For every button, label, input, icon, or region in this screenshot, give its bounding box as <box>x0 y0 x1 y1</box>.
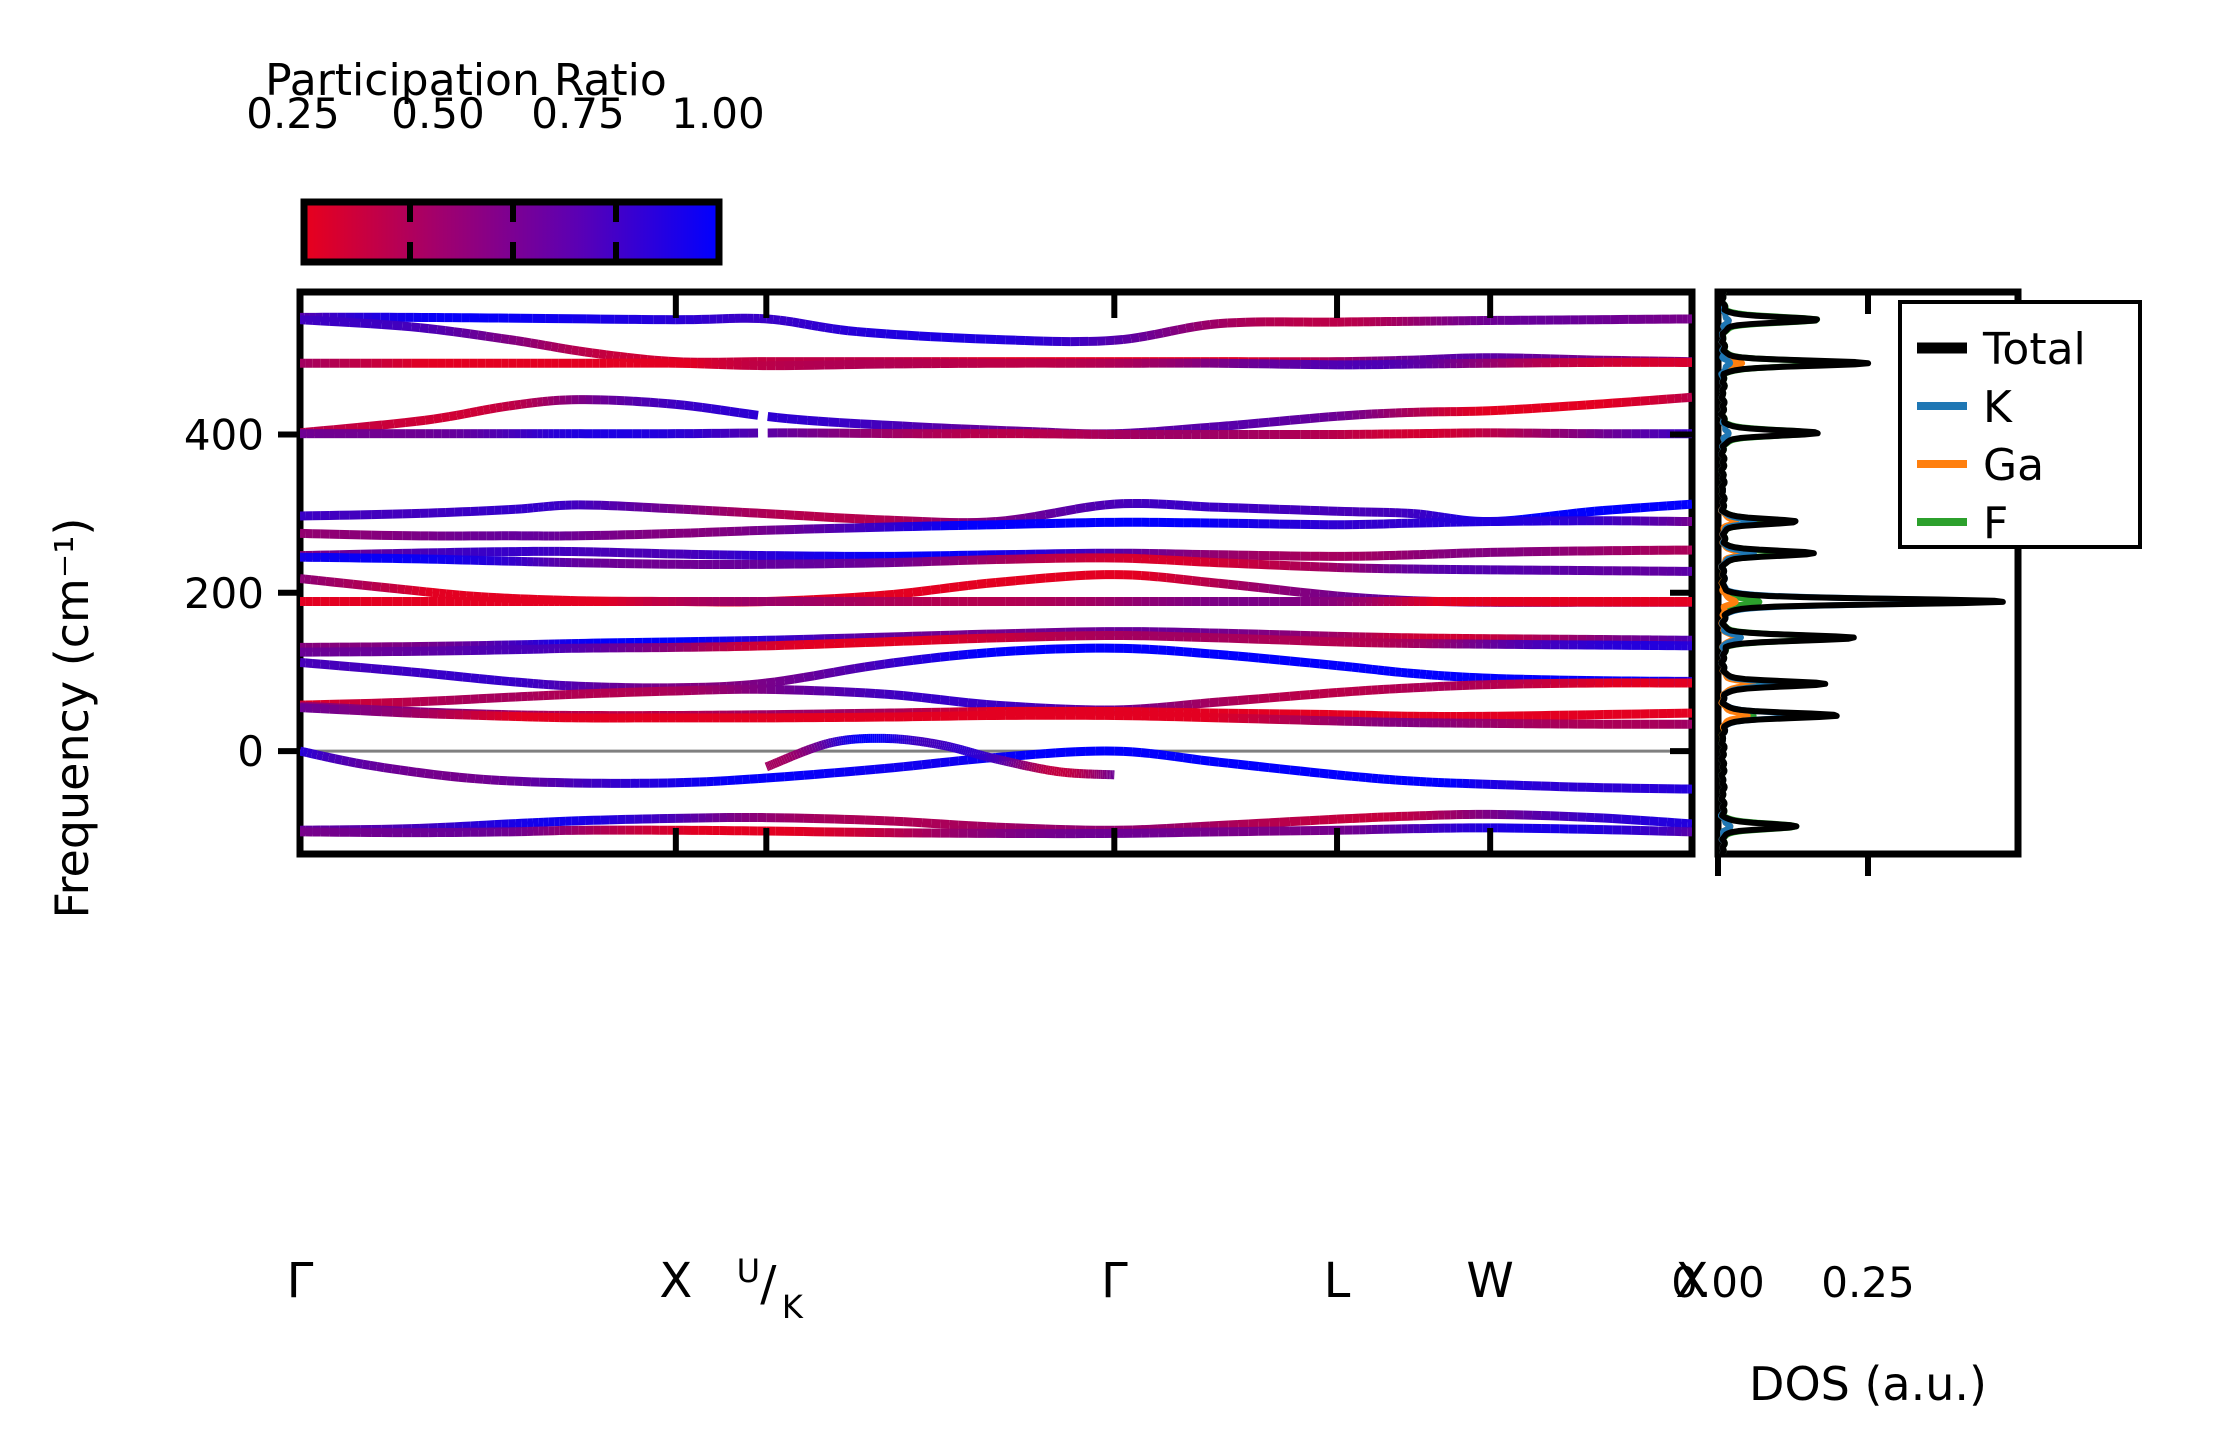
band-segment <box>885 694 895 695</box>
band-segment <box>1191 428 1200 429</box>
band-segment <box>778 761 780 762</box>
band-segment <box>1280 769 1290 770</box>
band-segment <box>442 417 450 418</box>
band-segment <box>311 580 318 581</box>
band-segment <box>1141 575 1150 576</box>
band-segment <box>876 333 886 334</box>
band-segment <box>676 404 685 405</box>
band-segment <box>1025 516 1035 518</box>
band-segment <box>956 748 958 749</box>
band-segment <box>1175 757 1183 758</box>
band-segment <box>785 679 795 680</box>
band-segment <box>392 769 400 770</box>
band-segment <box>805 750 808 751</box>
band-segment <box>1015 518 1025 519</box>
band-segment <box>825 744 827 745</box>
band-segment <box>1650 506 1659 507</box>
band-segment <box>350 667 361 668</box>
band-segment <box>426 592 433 593</box>
band-segment <box>1290 770 1300 771</box>
legend-label-ga[interactable]: Ga <box>1983 440 2044 491</box>
band-segment <box>1300 821 1310 822</box>
band-segment <box>490 408 496 409</box>
band-segment <box>996 652 1006 653</box>
band-segment <box>785 515 795 516</box>
band-segment <box>1395 672 1401 673</box>
band-segment <box>1568 513 1577 514</box>
band-segment <box>953 338 964 339</box>
band-segment <box>1219 323 1228 324</box>
band-segment <box>992 758 994 759</box>
band-segment <box>1201 653 1210 654</box>
band-segment <box>1167 578 1175 579</box>
band-segment <box>486 336 494 337</box>
band-segment <box>913 822 922 823</box>
band-segment <box>1300 771 1310 772</box>
band-segment <box>1194 326 1202 327</box>
band-segment <box>845 669 855 671</box>
dos-legend[interactable]: TotalKGaF <box>1900 302 2140 549</box>
band-segment <box>466 596 473 597</box>
band-segment <box>931 699 940 700</box>
kpoint-label-slash: / <box>760 1256 777 1312</box>
band-segment <box>749 414 759 415</box>
band-segment <box>875 595 885 596</box>
band-segment <box>1300 695 1310 696</box>
band-segment <box>329 709 339 710</box>
band-segment <box>1228 655 1238 656</box>
band-segment <box>865 596 875 597</box>
band-segment <box>524 342 531 343</box>
band-segment <box>845 692 855 693</box>
band-segment <box>502 406 508 407</box>
band-segment <box>776 762 778 763</box>
band-segment <box>1659 506 1667 507</box>
band-segment <box>1259 588 1269 589</box>
band-segment <box>968 759 977 760</box>
band-segment <box>940 762 949 763</box>
band-segment <box>922 590 931 591</box>
band-segment <box>904 592 913 593</box>
band-segment <box>820 745 822 746</box>
band-segment <box>1018 764 1020 765</box>
dos-xlabel: DOS (a.u.) <box>1749 1357 1987 1411</box>
band-segment <box>1259 658 1269 659</box>
band-segment <box>1595 404 1604 405</box>
band-segment <box>459 777 467 778</box>
band-segment <box>1248 823 1258 824</box>
band-segment <box>420 328 429 329</box>
band-segment <box>464 413 471 414</box>
band-segment <box>1550 515 1559 516</box>
band-segment <box>527 403 532 404</box>
band-segment <box>1202 324 1210 325</box>
band-segment <box>839 423 850 424</box>
band-segment <box>1320 773 1329 774</box>
band-segment <box>875 693 885 694</box>
band-segment <box>930 337 941 338</box>
band-segment <box>515 682 521 683</box>
band-segment <box>797 420 807 421</box>
band-ytick-label: 200 <box>184 569 264 618</box>
band-segment <box>350 710 361 711</box>
band-segment <box>545 345 552 346</box>
band-segment <box>805 324 811 325</box>
band-segment <box>1150 753 1158 754</box>
band-segment <box>1320 417 1329 418</box>
band-segment <box>329 321 339 322</box>
band-segment <box>538 507 543 508</box>
band-segment <box>1046 577 1056 578</box>
band-segment <box>478 335 486 336</box>
band-segment <box>949 701 958 702</box>
band-segment <box>802 751 805 752</box>
band-segment <box>871 424 882 425</box>
band-segment <box>572 350 579 351</box>
band-segment <box>1183 758 1192 759</box>
figure-svg: Participation Ratio 0.25 0.50 0.75 1.00 … <box>0 0 2222 1455</box>
band-segment <box>402 326 411 327</box>
band-segment <box>1238 585 1248 586</box>
band-segment <box>463 677 471 678</box>
band-segment <box>711 409 720 410</box>
band-segment <box>1210 324 1218 325</box>
band-segment <box>1659 822 1667 823</box>
band-segment <box>429 674 438 675</box>
kpoint-label-uk: U/K <box>737 1252 804 1326</box>
band-segment <box>959 760 968 761</box>
band-segment <box>785 776 795 777</box>
band-segment <box>371 668 382 669</box>
band-segment <box>902 426 912 427</box>
band-segment <box>1175 651 1183 652</box>
band-segment <box>585 352 592 353</box>
band-segment <box>1432 516 1438 517</box>
band-segment <box>769 765 771 766</box>
band-segment <box>360 323 371 324</box>
band-segment <box>772 764 774 765</box>
band-segment <box>446 675 454 676</box>
band-segment <box>1612 403 1621 404</box>
band-segment <box>405 421 416 422</box>
band-segment <box>350 322 361 323</box>
band-segment <box>641 402 650 403</box>
band-segment <box>531 343 538 344</box>
band-segment <box>1559 406 1568 407</box>
band-segment <box>730 411 739 412</box>
band-segment <box>940 824 949 825</box>
band-segment <box>742 779 750 780</box>
band-segment <box>1006 756 1016 757</box>
band-segment <box>650 402 659 403</box>
band-segment <box>502 681 509 682</box>
band-segment <box>345 427 357 428</box>
band-segment <box>1259 422 1269 423</box>
band-segment <box>1280 822 1290 823</box>
band-segment <box>990 758 992 759</box>
band-segment <box>1248 586 1258 587</box>
band-segment <box>1269 421 1279 422</box>
band-segment <box>1210 582 1219 583</box>
band-segment <box>882 425 892 426</box>
band-segment <box>334 582 343 583</box>
band-segment <box>1007 761 1009 762</box>
band-segment <box>419 591 426 592</box>
band-segment <box>940 588 949 589</box>
band-segment <box>1329 774 1337 775</box>
band-segment <box>1345 691 1352 692</box>
band-segment <box>1280 660 1290 661</box>
band-segment <box>812 325 819 326</box>
band-segment <box>908 335 919 336</box>
band-segment <box>922 823 931 824</box>
band-segment <box>1182 429 1191 430</box>
band-segment <box>834 518 844 519</box>
band-segment <box>962 750 964 751</box>
band-segment <box>922 764 931 765</box>
band-segment <box>794 775 804 776</box>
band-segment <box>1675 398 1682 399</box>
band-segment <box>494 337 502 338</box>
band-segment <box>320 664 329 665</box>
band-segment <box>1612 509 1621 510</box>
band-segment <box>1238 656 1248 657</box>
band-segment <box>959 654 968 655</box>
legend-label-f[interactable]: F <box>1983 498 2008 549</box>
band-segment <box>1650 821 1659 822</box>
band-segment <box>1622 819 1631 820</box>
band-segment <box>1586 511 1595 512</box>
band-segment <box>1310 694 1320 695</box>
band-segment <box>1320 693 1329 694</box>
band-segment <box>775 777 784 778</box>
band-segment <box>496 407 502 408</box>
band-segment <box>1046 753 1056 754</box>
band-segment <box>959 702 968 703</box>
band-segment <box>303 752 307 753</box>
band-segment <box>913 591 922 592</box>
band-segment <box>467 778 475 779</box>
band-segment <box>1139 336 1147 337</box>
band-segment <box>986 704 996 705</box>
band-segment <box>1056 752 1066 753</box>
band-segment <box>1155 333 1163 335</box>
band-segment <box>312 663 320 664</box>
band-segment <box>968 584 977 585</box>
band-segment <box>1192 759 1201 760</box>
band-segment <box>834 772 844 773</box>
dos-panel: 0.000.25 DOS (a.u.) TotalKGaF <box>1671 292 2140 1411</box>
band-segment <box>912 427 922 428</box>
band-segment <box>371 324 382 325</box>
band-segment <box>307 753 312 754</box>
band-segment <box>1280 590 1290 591</box>
band-segment <box>1066 576 1076 577</box>
band-segment <box>972 753 974 754</box>
band-segment <box>317 755 323 756</box>
band-segment <box>475 779 483 780</box>
band-segment <box>804 676 814 678</box>
band-segment <box>342 760 349 761</box>
band-segment <box>818 326 825 327</box>
band-segment <box>1622 402 1631 403</box>
band-segment <box>1559 514 1568 515</box>
band-segment <box>814 516 824 517</box>
band-segment <box>1219 762 1229 763</box>
band-segment <box>982 755 984 756</box>
band-segment <box>453 594 460 595</box>
band-segment <box>1577 512 1586 513</box>
band-segment <box>850 423 861 424</box>
band-segment <box>855 667 865 669</box>
band-segment <box>1248 699 1258 700</box>
band-segment <box>305 663 312 664</box>
band-segment <box>1192 826 1201 827</box>
band-segment <box>370 765 377 766</box>
band-segment <box>931 657 940 658</box>
band-segment <box>411 672 420 673</box>
band-segment <box>335 759 342 760</box>
band-segment <box>533 507 538 508</box>
band-segment <box>693 406 702 407</box>
band-segment <box>1631 820 1640 821</box>
dos-xtick-label: 0.00 <box>1671 1258 1765 1307</box>
band-segment <box>775 681 784 682</box>
band-segment <box>1106 340 1115 341</box>
band-segment <box>1300 592 1310 593</box>
band-ytick-label: 400 <box>184 410 264 459</box>
band-segment <box>1183 652 1192 653</box>
band-segment <box>1523 408 1532 409</box>
band-segment <box>1015 580 1025 581</box>
band-segment <box>1175 705 1183 706</box>
band-segment <box>810 748 813 749</box>
kpoint-label-k: K <box>782 1288 804 1326</box>
band-segment <box>454 676 462 677</box>
band-segment <box>822 744 824 745</box>
band-segment <box>970 752 972 753</box>
band-segment <box>1550 407 1559 408</box>
band-segment <box>405 590 412 591</box>
band-segment <box>828 422 839 423</box>
band-segment <box>613 356 620 357</box>
band-segment <box>1210 654 1219 655</box>
band-segment <box>1622 508 1631 509</box>
band-segment <box>1056 576 1066 577</box>
band-segment <box>794 754 797 755</box>
band-segment <box>411 327 420 328</box>
band-segment <box>968 826 977 827</box>
figure-canvas: Participation Ratio 0.25 0.50 0.75 1.00 … <box>0 0 2222 1455</box>
band-segment <box>1269 822 1279 823</box>
band-segment <box>532 402 537 403</box>
band-segment <box>739 413 748 414</box>
band-segment <box>1167 755 1175 756</box>
band-segment <box>1310 593 1320 594</box>
band-segment <box>1532 408 1541 409</box>
band-segment <box>1586 404 1595 405</box>
band-segment <box>1238 764 1248 765</box>
band-segment <box>968 751 970 752</box>
band-segment <box>1359 668 1366 669</box>
band-segment <box>382 324 392 325</box>
band-segment <box>1163 331 1171 333</box>
legend-label-total[interactable]: Total <box>1982 324 2086 375</box>
band-segment <box>349 762 356 763</box>
band-segment <box>329 757 335 758</box>
band-segment <box>1359 777 1366 778</box>
band-segment <box>429 329 437 330</box>
band-segment <box>1667 399 1675 400</box>
legend-label-k[interactable]: K <box>1983 382 2013 433</box>
band-segment <box>824 517 834 518</box>
band-segment <box>1269 659 1279 660</box>
band-segment <box>1006 651 1016 652</box>
band-segment <box>1175 505 1183 506</box>
band-segment <box>913 659 922 660</box>
band-segment <box>1123 751 1132 752</box>
colorbar-group: Participation Ratio 0.25 0.50 0.75 1.00 <box>246 55 765 262</box>
band-segment <box>1568 406 1577 407</box>
band-segment <box>894 695 903 696</box>
band-segment <box>986 652 996 653</box>
band-segment <box>886 334 897 335</box>
band-segment <box>339 666 349 667</box>
band-segment <box>1352 667 1359 668</box>
band-segment <box>1123 339 1131 340</box>
band-segment <box>416 420 425 421</box>
band-segment <box>960 749 962 750</box>
band-segment <box>483 779 491 780</box>
band-segment <box>817 746 819 747</box>
band-segment <box>782 759 784 760</box>
band-segment <box>892 426 902 427</box>
band-segment <box>787 757 789 758</box>
band-segment <box>966 751 968 752</box>
band-segment <box>439 593 446 594</box>
band-segment <box>318 580 326 581</box>
band-segment <box>1219 426 1229 427</box>
band-segment <box>1002 760 1004 761</box>
band-segment <box>780 760 782 761</box>
band-segment <box>949 655 958 656</box>
band-segment <box>894 593 903 594</box>
band-segment <box>484 409 490 410</box>
band-segment <box>919 336 930 337</box>
band-segment <box>300 751 303 752</box>
band-segment <box>620 357 627 358</box>
band-segment <box>793 322 799 323</box>
band-segment <box>1310 418 1320 419</box>
band-segment <box>606 355 613 356</box>
band-segment <box>1310 663 1320 664</box>
band-segment <box>1035 754 1045 755</box>
band-segment <box>861 424 872 425</box>
band-segment <box>1259 767 1269 768</box>
band-segment <box>774 763 776 764</box>
band-segment <box>959 825 968 826</box>
band-segment <box>996 705 1006 706</box>
band-segment <box>766 319 773 320</box>
band-segment <box>437 674 446 675</box>
band-segment <box>794 515 804 516</box>
band-segment <box>931 763 940 764</box>
band-segment <box>986 756 988 757</box>
band-segment <box>1210 761 1219 762</box>
band-segment <box>363 764 370 765</box>
band-segment <box>1352 776 1359 777</box>
band-segment <box>353 584 362 585</box>
